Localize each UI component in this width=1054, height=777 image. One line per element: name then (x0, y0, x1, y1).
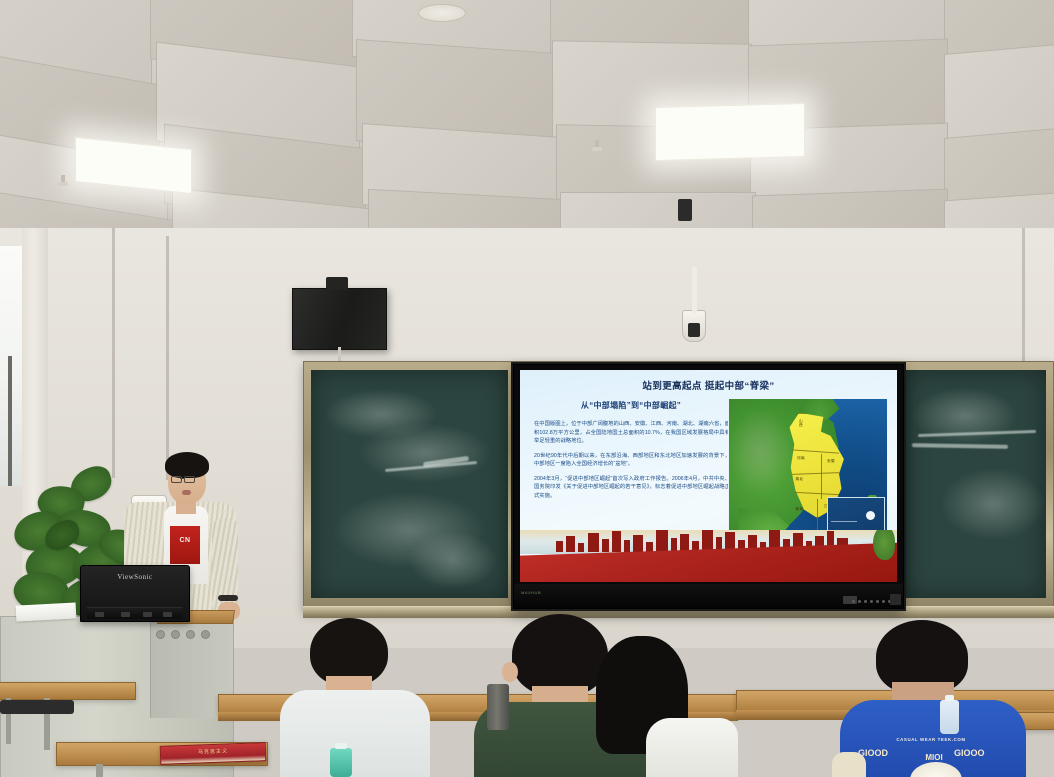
classroom-photo: 站到更高起点 挺起中部“脊梁” 从“中部塌陷”到“中部崛起” 在中国版图上，位于… (0, 0, 1054, 777)
map-label-henan: 河南 (797, 457, 805, 461)
map-label-shanxi: 山西 (799, 419, 803, 427)
chair (0, 700, 74, 714)
student-blue-shirt: CASUAL WEAR TEEK.COM GIOOD MIOI GIOOO (836, 620, 1036, 777)
thermos-cup[interactable] (487, 684, 509, 730)
student-white-shirt (296, 618, 416, 777)
sprinkler-icon (592, 140, 602, 152)
blue-shirt-print-top: CASUAL WEAR TEEK.COM (846, 737, 1016, 742)
presentation-slide: 站到更高起点 挺起中部“脊梁” 从“中部塌陷”到“中部崛起” 在中国版图上，位于… (520, 370, 897, 582)
slide-footer-skyline (520, 530, 897, 582)
slide-paragraph-1: 在中国版图上，位于中部广阔腹地的山西、安徽、江西、河南、湖北、湖南六省，面积10… (534, 420, 730, 446)
blue-shirt-print-right: GIOOO (954, 748, 1014, 758)
ceiling-light-panel-right (655, 103, 805, 161)
map-label-anhui: 安徽 (827, 460, 835, 464)
slide-body-text: 在中国版图上，位于中部广阔腹地的山西、安徽、江西、河南、湖北、湖南六省，面积10… (534, 420, 730, 507)
blue-shirt-print-left: GIOOD (858, 748, 912, 758)
monitor-brand-label: ViewSonic (81, 573, 189, 581)
podium-papers (16, 602, 77, 621)
ceiling (0, 0, 1054, 250)
window (0, 246, 22, 486)
book-title-text: 马克思主义 (161, 746, 265, 757)
presenter-hair (165, 452, 209, 478)
blue-shirt-sleeve (832, 752, 866, 777)
blue-shirt-print-mid: MIOI (910, 753, 958, 762)
presenter-mouth (182, 490, 191, 495)
student-shirt (646, 718, 738, 777)
desk-leg (96, 764, 103, 777)
ceiling-speaker-icon (418, 4, 466, 22)
slide-title: 站到更高起点 挺起中部“脊梁” (520, 378, 897, 392)
water-bottle[interactable] (940, 700, 959, 734)
display-bottom-bezel: MAXHUB (514, 584, 903, 608)
wall-speaker-icon (292, 288, 387, 350)
desk-row-left-back (0, 682, 136, 700)
student-shirt (280, 690, 430, 777)
interactive-display[interactable]: 站到更高起点 挺起中部“脊梁” 从“中部塌陷”到“中部崛起” 在中国版图上，位于… (513, 364, 904, 609)
podium-monitor[interactable]: ViewSonic (80, 565, 190, 622)
map-label-hunan: 湖南 (795, 508, 803, 512)
slide-map-china: 山西 河南 安徽 湖北 湖南 江西 (728, 398, 888, 552)
student-long-hair (590, 636, 710, 777)
slide-subtitle: 从“中部塌陷”到“中部崛起” (536, 400, 726, 411)
teal-water-bottle[interactable] (330, 748, 352, 777)
student-ear (502, 662, 518, 682)
slide-tree-decoration (873, 530, 895, 560)
podium-control-knobs[interactable] (156, 630, 210, 639)
book-on-desk[interactable]: 马克思主义 (160, 742, 267, 765)
presenter-watch (218, 595, 238, 601)
map-label-hubei: 湖北 (795, 478, 803, 482)
dome-camera-icon (682, 310, 706, 342)
slide-paragraph-2: 20世纪90年代中后期以来，在东部沿海、西部地区和东北地区加速发展的背景下，中部… (534, 452, 730, 469)
sprinkler-icon (58, 175, 68, 187)
display-brand-label: MAXHUB (521, 590, 541, 595)
chalkboard-right[interactable] (904, 370, 1046, 598)
chalkboard-left[interactable] (311, 370, 508, 598)
presenter-tshirt-text: CN (170, 537, 200, 544)
presenter-glasses-icon (171, 476, 203, 481)
display-logo-plate (890, 594, 901, 605)
ceiling-sensor-icon (678, 199, 692, 221)
slide-paragraph-3: 2004年3月，“促进中部地区崛起”首次写入政府工作报告。2006年4月，中共中… (534, 475, 730, 501)
presenter-tshirt-graphic: CN (170, 526, 200, 564)
